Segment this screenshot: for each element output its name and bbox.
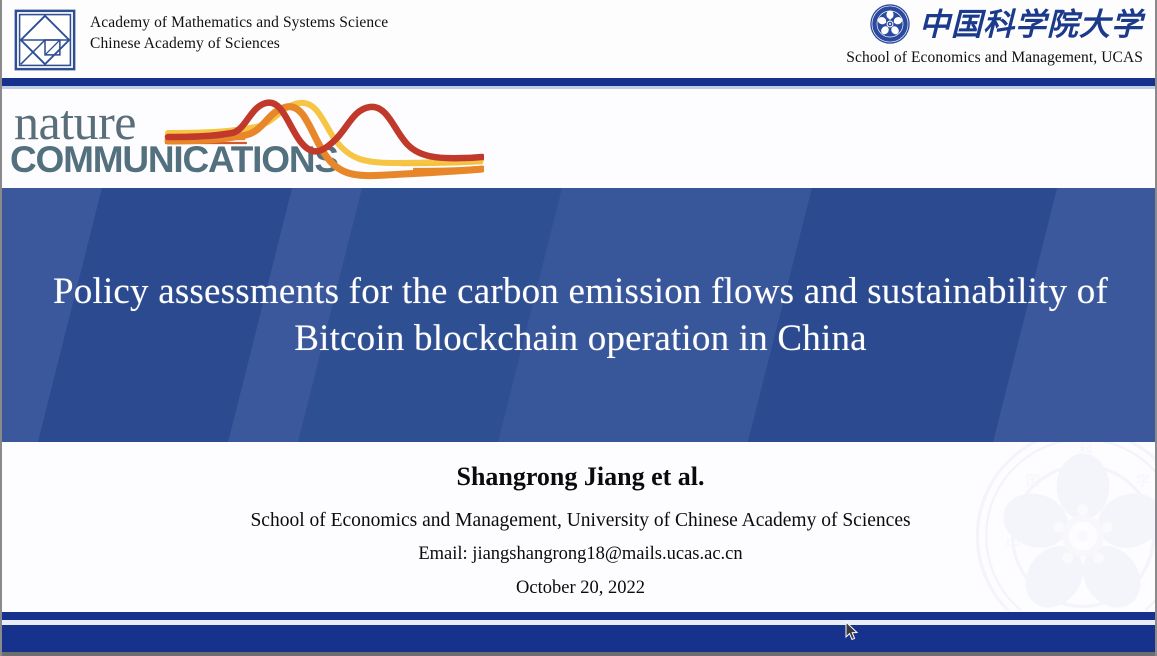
ucas-chinese-name: 中国科学院大学 — [919, 9, 1143, 40]
title-band: Policy assessments for the carbon emissi… — [2, 188, 1157, 442]
page-title: Policy assessments for the carbon emissi… — [46, 268, 1116, 363]
presentation-date: October 20, 2022 — [2, 578, 1157, 599]
amss-institute-name: Academy of Mathematics and Systems Scien… — [90, 13, 388, 55]
footer-bar-lower — [2, 625, 1157, 652]
footer-bar-upper — [2, 612, 1157, 620]
amss-branding: Academy of Mathematics and Systems Scien… — [14, 9, 388, 71]
presentation-slide: Academy of Mathematics and Systems Scien… — [0, 0, 1157, 656]
ucas-circular-seal-icon — [869, 3, 911, 45]
amss-square-diamond-icon — [14, 9, 76, 71]
ucas-logo-row: 中国科学院大学 — [846, 2, 1143, 46]
amss-line-1: Academy of Mathematics and Systems Scien… — [90, 13, 388, 34]
author-meta-block: Shangrong Jiang et al. School of Economi… — [2, 442, 1157, 599]
header-divider-bar — [2, 78, 1157, 86]
journal-logo-band: nature COMMUNICATIONS — [2, 89, 1157, 188]
amss-line-2: Chinese Academy of Sciences — [90, 34, 388, 55]
slide-header: Academy of Mathematics and Systems Scien… — [2, 0, 1157, 78]
author-name: Shangrong Jiang et al. — [2, 462, 1157, 492]
nature-communications-logo: nature COMMUNICATIONS — [6, 91, 476, 186]
author-email: Email: jiangshangrong18@mails.ucas.ac.cn — [2, 544, 1157, 565]
author-meta-area: 科 学 院 国 中 Shangrong Jiang et al. School … — [2, 442, 1157, 610]
author-affiliation: School of Economics and Management, Univ… — [2, 510, 1157, 532]
journal-wave-graphic — [164, 91, 484, 188]
ucas-branding: 中国科学院大学 School of Economics and Manageme… — [846, 2, 1143, 67]
slide-bottom-edge — [2, 652, 1157, 656]
ucas-school-name: School of Economics and Management, UCAS — [846, 49, 1143, 67]
title-text-wrapper: Policy assessments for the carbon emissi… — [2, 188, 1157, 442]
